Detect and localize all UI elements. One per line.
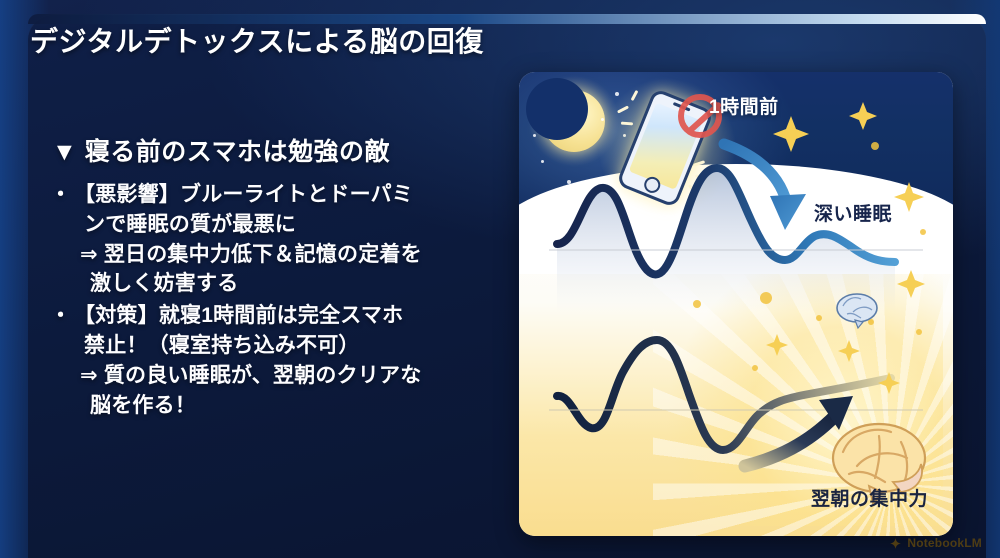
content-column: ▼ 寝る前のスマホは勉強の敵 【悪影響】ブルーライトとドーパミ ンで睡眠の質が最… — [34, 132, 504, 423]
list-item: 【悪影響】ブルーライトとドーパミ ンで睡眠の質が最悪に ⇒ 翌日の集中力低下＆記… — [34, 180, 504, 299]
bullet-line: 【悪影響】ブルーライトとドーパミ — [74, 180, 504, 210]
bullet-line: 【対策】就寝1時間前は完全スマホ — [74, 301, 504, 331]
bullet-line: ⇒ 質の良い睡眠が、翌朝のクリアな — [80, 361, 504, 391]
watermark: NotebookLM — [889, 536, 982, 550]
crescent-moon-icon — [543, 90, 605, 152]
star-icon — [567, 180, 571, 184]
notebooklm-logo-icon — [889, 537, 902, 550]
star-icon — [533, 134, 536, 137]
bullet-line: 脳を作る！ — [90, 391, 504, 421]
bullet-line: ンで睡眠の質が最悪に — [84, 210, 504, 240]
watermark-text: NotebookLM — [907, 536, 982, 550]
morning-focus-label: 翌朝の集中力 — [811, 484, 928, 511]
bullet-line: 禁止！（寝室持ち込み不可） — [84, 331, 504, 361]
bullet-line: 激しく妨害する — [90, 269, 504, 299]
list-item: 【対策】就寝1時間前は完全スマホ 禁止！（寝室持ち込み不可） ⇒ 質の良い睡眠が… — [34, 301, 504, 420]
smartphone-icon — [615, 88, 719, 204]
star-icon — [541, 160, 544, 163]
page-title: デジタルデトックスによる脳の回復 — [30, 20, 550, 60]
deep-sleep-label: 深い睡眠 — [814, 199, 892, 226]
section-heading: ▼ 寝る前のスマホは勉強の敵 — [52, 132, 504, 168]
hour-label: 1時間前 — [709, 92, 779, 119]
slide-root: デジタルデトックスによる脳の回復 ▼ 寝る前のスマホは勉強の敵 【悪影響】ブルー… — [0, 0, 1000, 558]
illustration-card: 1時間前 — [519, 72, 953, 536]
bullet-line: ⇒ 翌日の集中力低下＆記憶の定着を — [80, 240, 504, 270]
